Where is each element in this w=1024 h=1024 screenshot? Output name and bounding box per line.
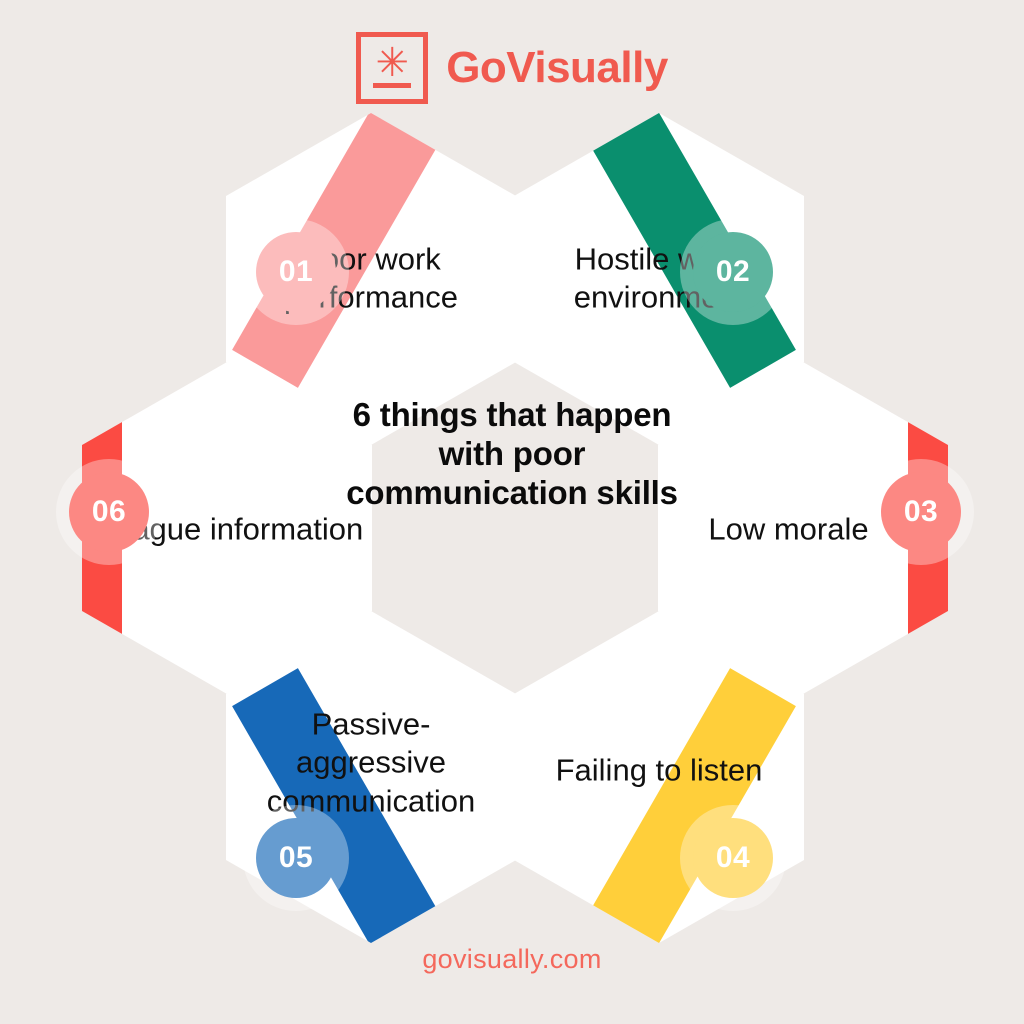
hexagon-item-05[interactable]: Passive-aggressive communication 05 [226,611,516,943]
hexagon-badge-number-03: 03 [904,495,938,529]
hexagon-badge-05[interactable]: 05 [256,818,336,898]
hexagon-badge-number-04: 04 [716,841,750,875]
center-title: 6 things that happen with poor communica… [332,396,692,513]
footer-url: govisually.com [0,944,1024,975]
hexagon-badge-04[interactable]: 04 [693,818,773,898]
hexagon-badge-number-02: 02 [716,255,750,289]
hexagon-badge-number-05: 05 [279,841,313,875]
hexagon-badge-03[interactable]: 03 [881,472,961,552]
hexagon-badge-number-01: 01 [279,255,313,289]
hexagon-badge-number-06: 06 [92,495,126,529]
hexagon-item-04[interactable]: Failing to listen 04 [514,611,804,943]
hexagon-badge-02[interactable]: 02 [693,232,773,312]
hexagon-badge-01[interactable]: 01 [256,232,336,312]
hexagon-badge-06[interactable]: 06 [69,472,149,552]
